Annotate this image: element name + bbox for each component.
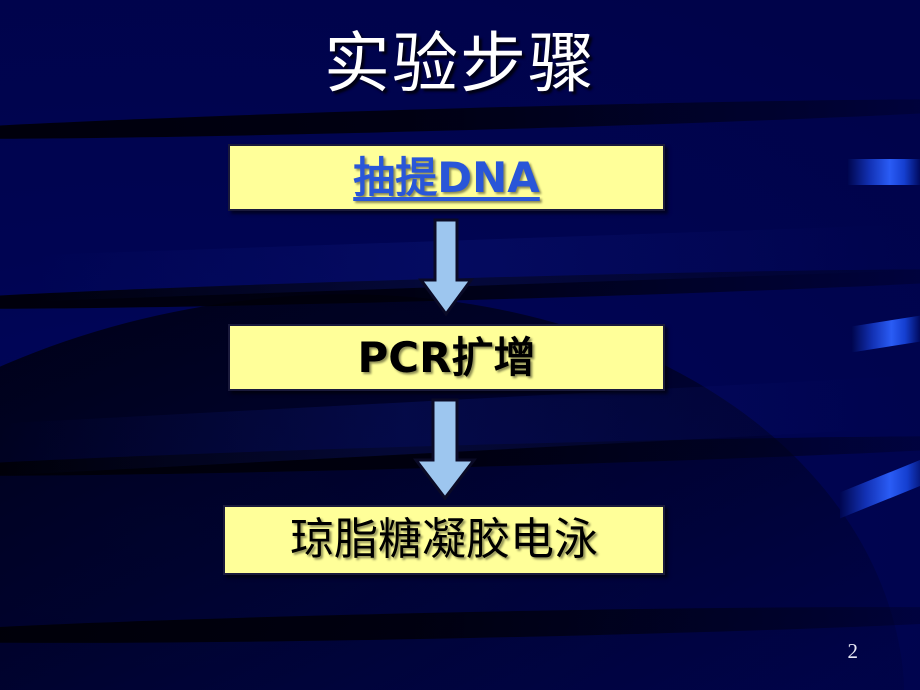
- flow-box-pcr-amplification[interactable]: PCR扩增: [228, 324, 665, 391]
- flow-box-agarose-gel-electrophoresis[interactable]: 琼脂糖凝胶电泳: [223, 505, 665, 575]
- presentation-slide: 实验步骤 抽提DNA PCR扩增 琼脂糖凝胶电泳 2: [0, 0, 920, 690]
- flow-box-extract-dna[interactable]: 抽提DNA: [228, 144, 665, 211]
- flow-box-extract-dna-label[interactable]: 抽提DNA: [353, 157, 540, 199]
- slide-title: 实验步骤: [0, 24, 920, 104]
- slide-page-number: 2: [848, 641, 859, 662]
- flow-box-pcr-amplification-label: PCR扩增: [358, 337, 536, 379]
- flow-box-agarose-gel-electrophoresis-label: 琼脂糖凝胶电泳: [290, 518, 598, 562]
